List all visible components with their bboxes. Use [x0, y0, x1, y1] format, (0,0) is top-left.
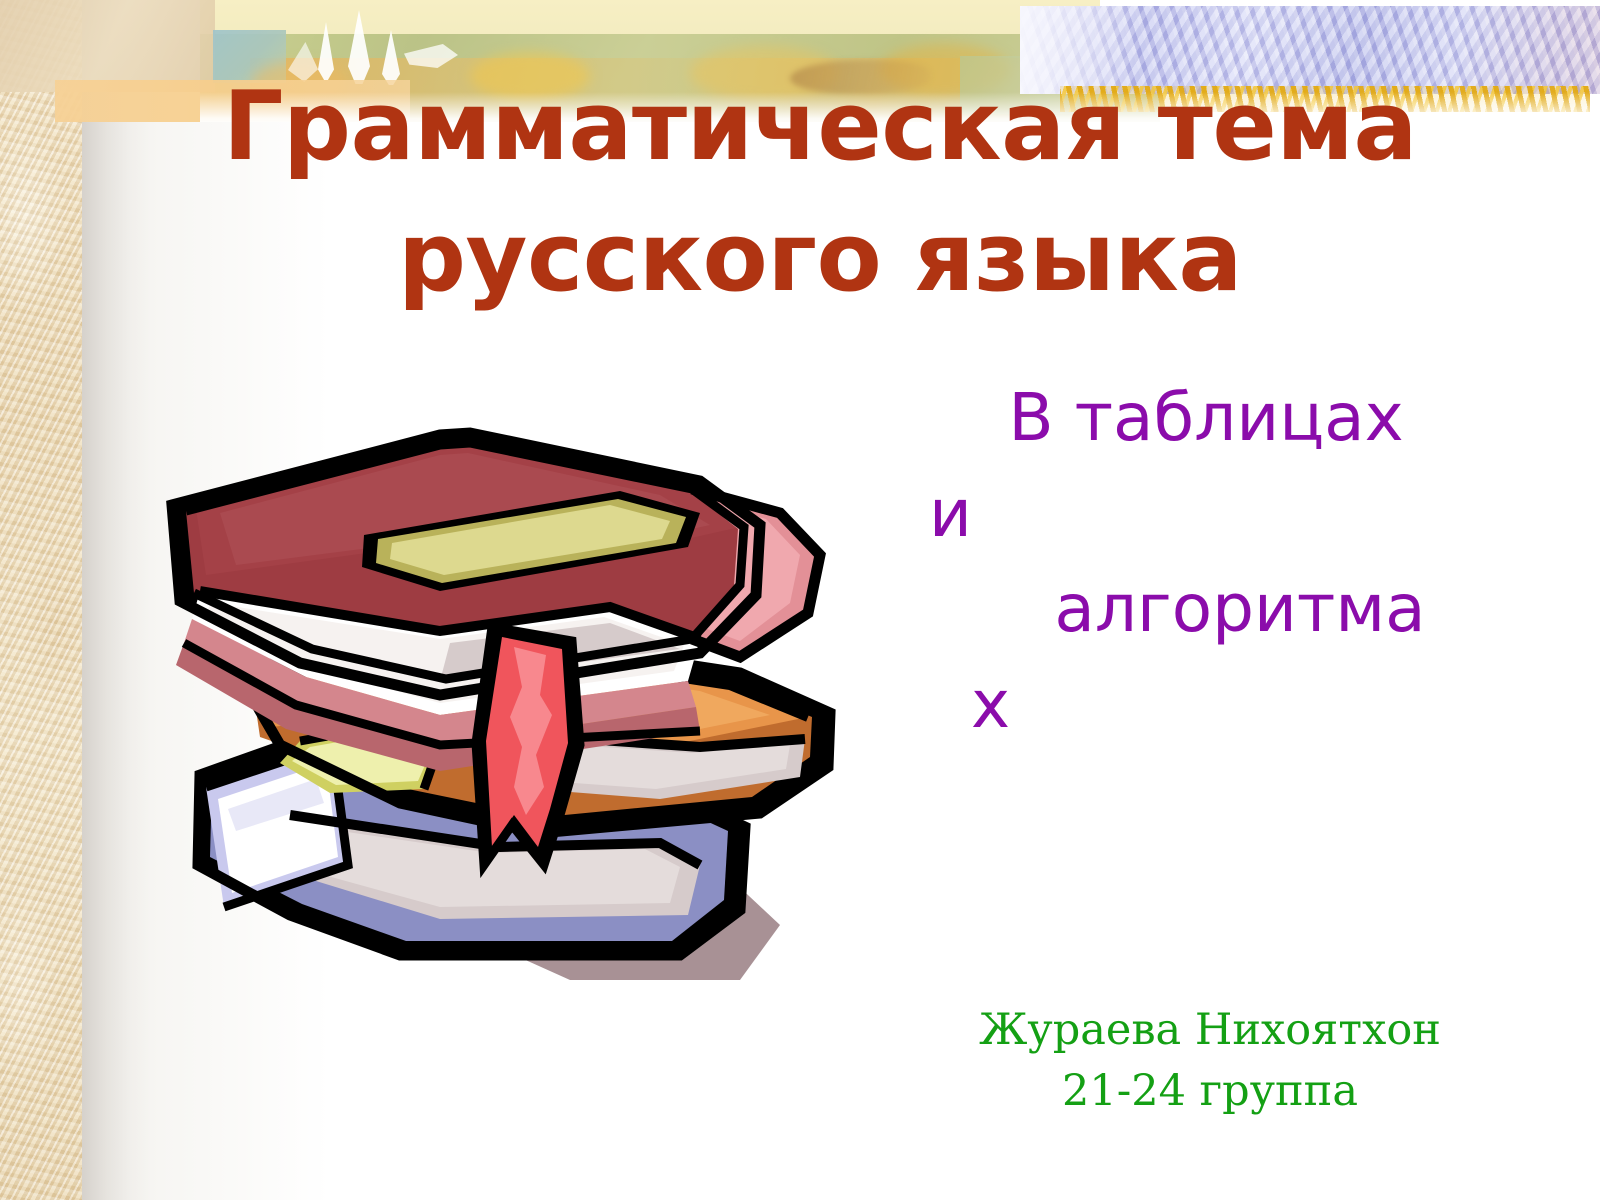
left-paper-texture-strip	[0, 0, 82, 1200]
title-line-1: Грамматическая тема	[223, 72, 1417, 182]
slide-title: Грамматическая тема русского языка	[90, 62, 1550, 324]
author-group: 21-24 группа	[900, 1061, 1520, 1122]
author-name: Жураева Нихоятхон	[900, 1000, 1520, 1061]
subtitle-line-3: алгоритма	[905, 561, 1525, 657]
slide-subtitle: В таблицах и алгоритма х	[905, 370, 1525, 753]
subtitle-line-2: и	[905, 466, 1525, 562]
author-credit: Жураева Нихоятхон 21-24 группа	[900, 1000, 1520, 1122]
subtitle-line-1: В таблицах	[905, 370, 1525, 466]
stack-of-books-illustration	[140, 395, 880, 995]
subtitle-line-4: х	[905, 657, 1525, 753]
title-line-2: русского языка	[90, 193, 1550, 324]
presentation-slide: Грамматическая тема русского языка	[0, 0, 1600, 1200]
